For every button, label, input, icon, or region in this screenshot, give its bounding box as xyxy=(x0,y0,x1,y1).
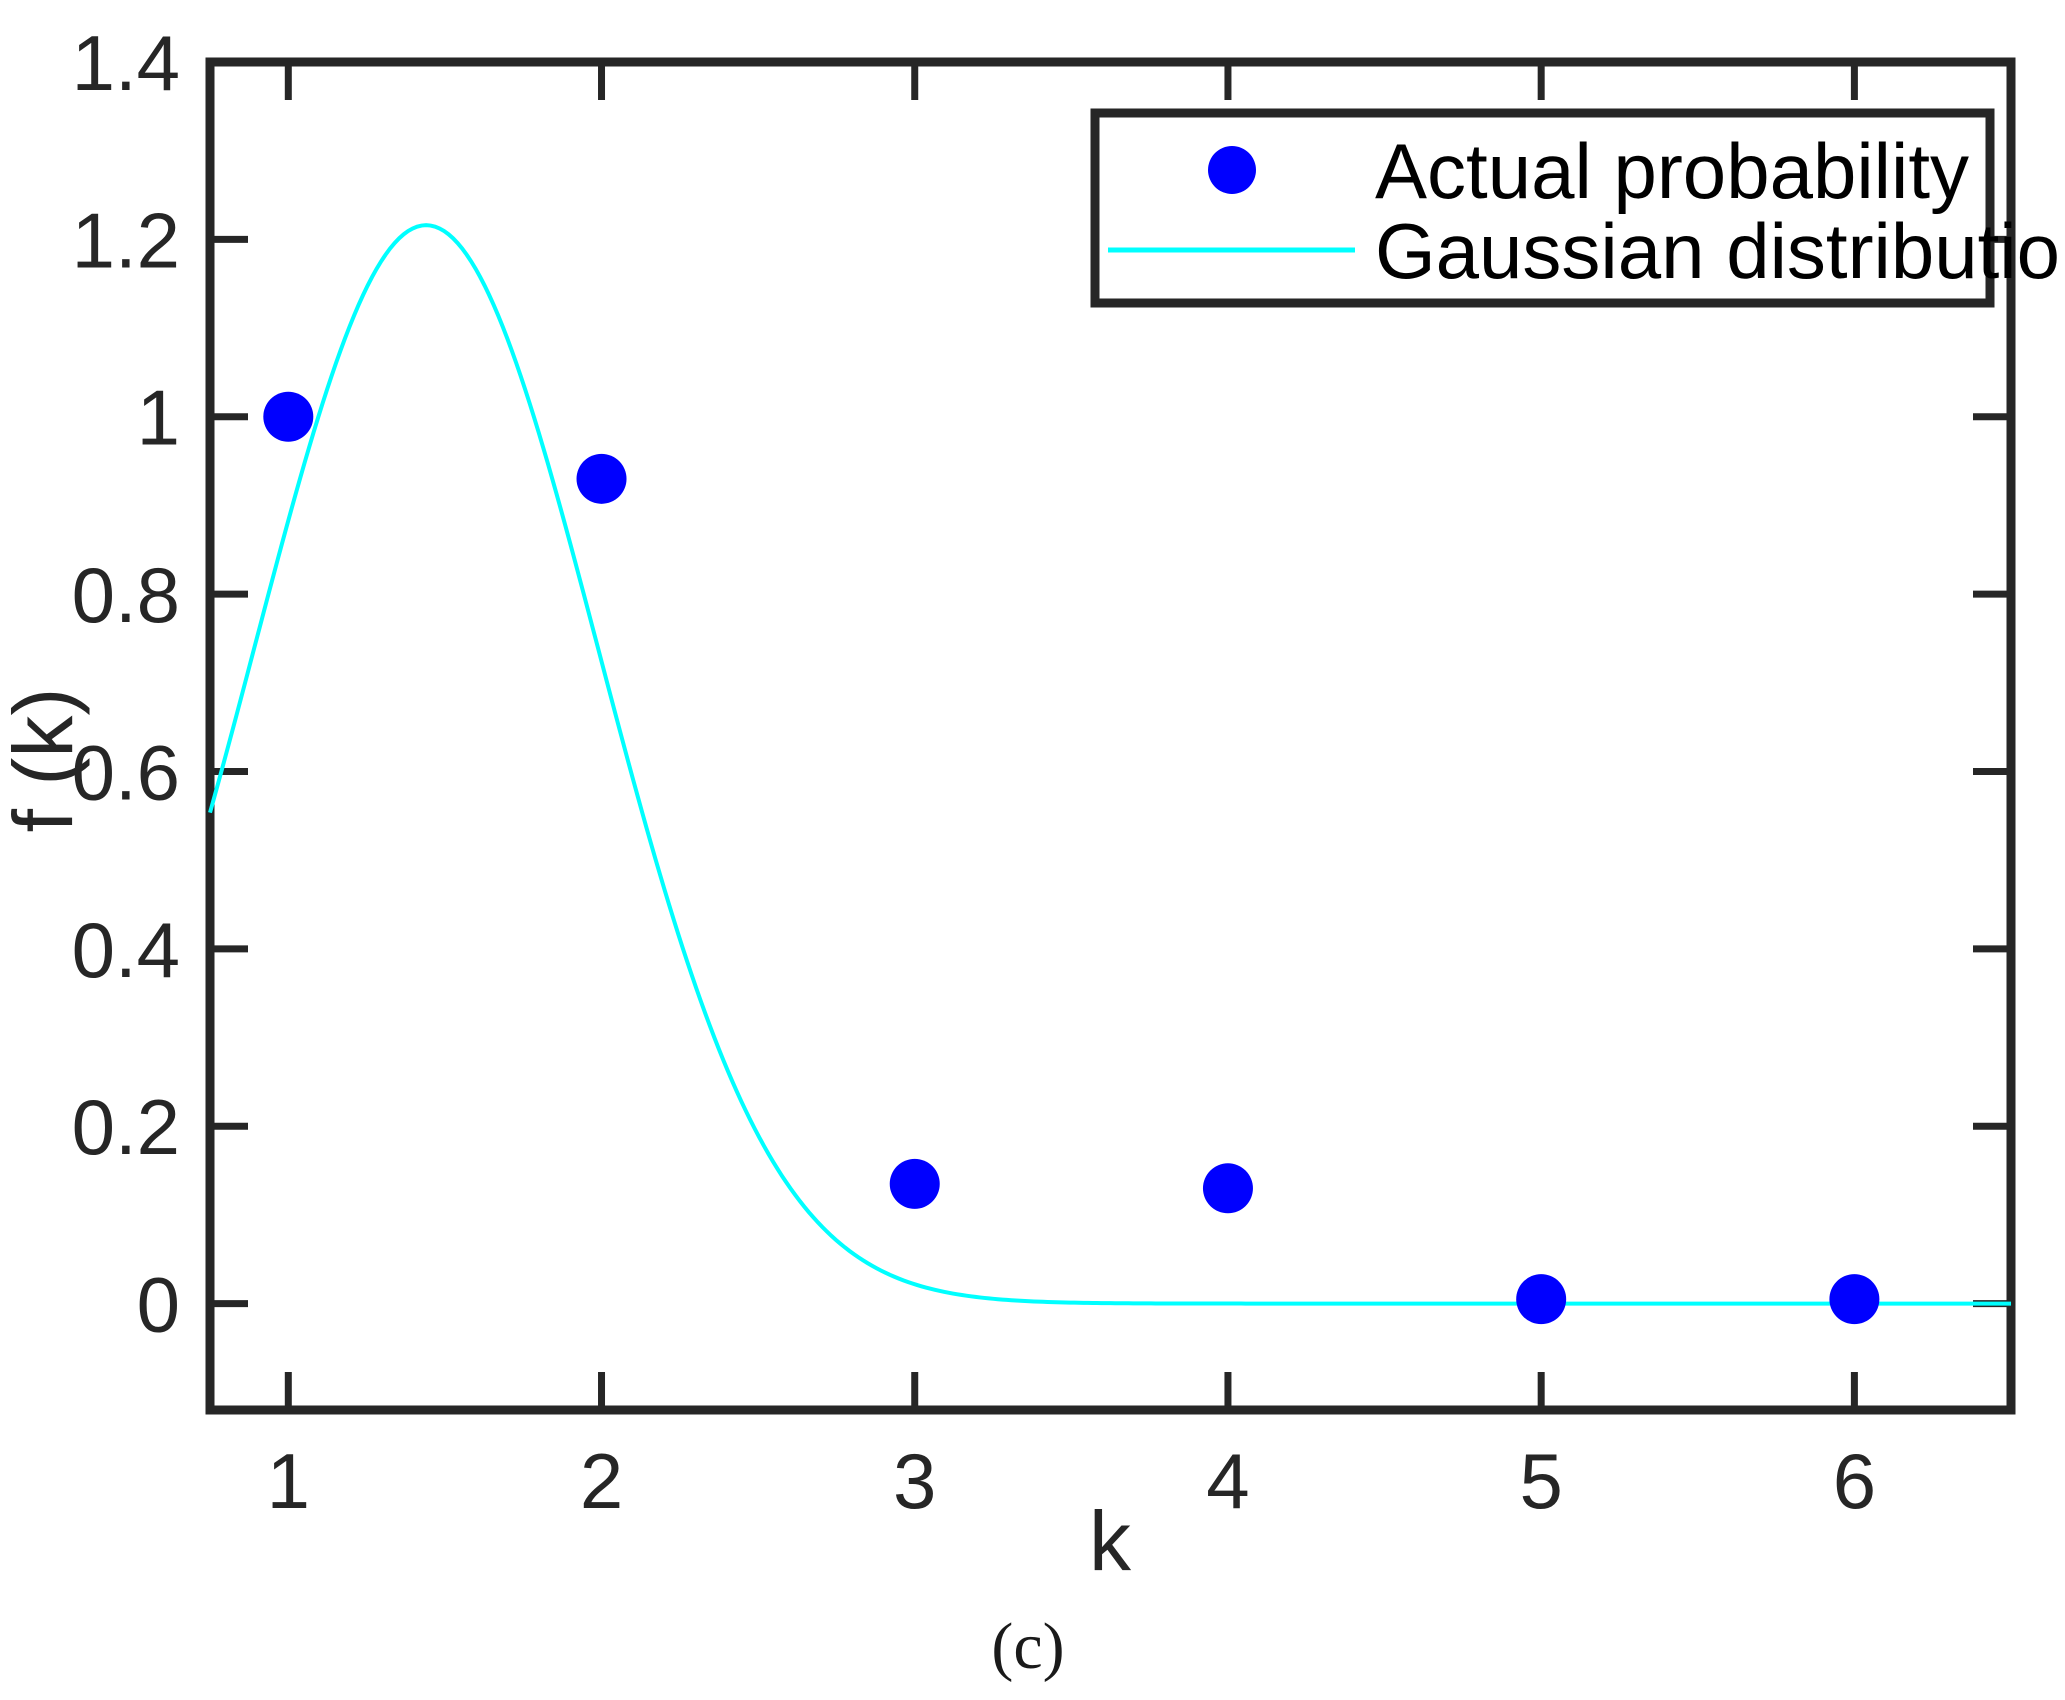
x-tick-label: 1 xyxy=(267,1437,310,1525)
chart-canvas: 00.20.40.60.811.21.4 123456 k f (k) (c) … xyxy=(0,0,2065,1700)
y-axis-title: f (k) xyxy=(0,688,90,833)
x-tick-label: 4 xyxy=(1206,1437,1249,1525)
y-tick-label: 0 xyxy=(137,1261,180,1349)
x-tick-label: 2 xyxy=(580,1437,623,1525)
data-point xyxy=(1829,1274,1879,1324)
y-tick-label: 1.4 xyxy=(72,19,180,107)
y-tick-label: 0.4 xyxy=(72,906,180,994)
figure-panel: 00.20.40.60.811.21.4 123456 k f (k) (c) … xyxy=(0,0,2065,1700)
series-actual-probability xyxy=(263,392,1879,1324)
figure-caption: (c) xyxy=(991,1610,1064,1683)
legend-label-1: Gaussian distribution xyxy=(1375,207,2065,295)
data-point xyxy=(577,454,627,504)
x-axis-title: k xyxy=(1089,1494,1132,1588)
series-gaussian-distribution xyxy=(210,225,2011,1303)
y-tick-label: 1 xyxy=(137,374,180,462)
x-axis-ticks-top xyxy=(288,62,1854,100)
data-point xyxy=(263,392,313,442)
y-axis-ticks: 00.20.40.60.811.21.4 xyxy=(72,19,248,1349)
data-point xyxy=(890,1159,940,1209)
y-tick-label: 1.2 xyxy=(72,196,180,284)
x-axis-ticks: 123456 xyxy=(267,1372,1876,1525)
y-tick-label: 0.8 xyxy=(72,551,180,639)
data-point xyxy=(1203,1163,1253,1213)
y-tick-label: 0.2 xyxy=(72,1083,180,1171)
data-point xyxy=(1516,1274,1566,1324)
x-tick-label: 5 xyxy=(1519,1437,1562,1525)
legend-marker-dot-icon xyxy=(1208,146,1256,194)
legend[interactable]: Actual probability Gaussian distribution xyxy=(1095,113,2065,303)
x-tick-label: 6 xyxy=(1833,1437,1876,1525)
x-tick-label: 3 xyxy=(893,1437,936,1525)
legend-label-0: Actual probability xyxy=(1375,127,1969,215)
